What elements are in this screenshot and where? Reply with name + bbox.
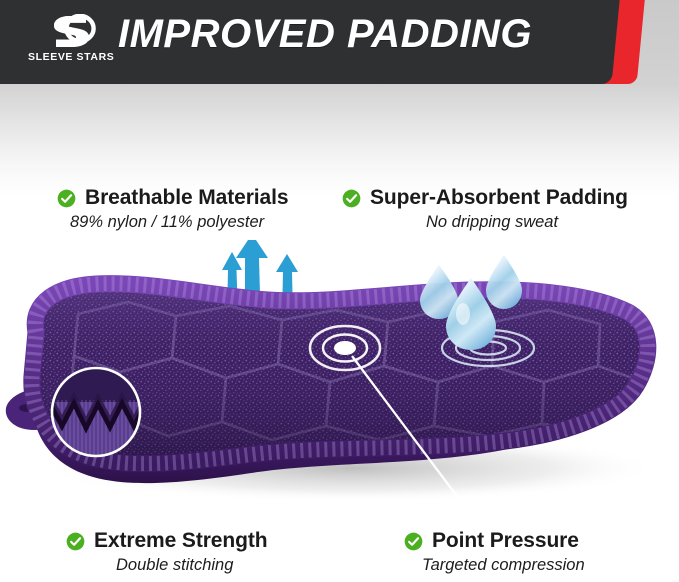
feature-title: Breathable Materials bbox=[85, 186, 288, 210]
feature-super-absorbent-padding: Super-Absorbent Padding No dripping swea… bbox=[342, 186, 628, 232]
feature-point-pressure: Point Pressure Targeted compression bbox=[404, 529, 585, 575]
product-illustration bbox=[0, 240, 679, 530]
header-banner: SLEEVE STARS IMPROVED PADDING bbox=[0, 0, 679, 84]
feature-title: Super-Absorbent Padding bbox=[370, 186, 628, 210]
product-infographic: SLEEVE STARS IMPROVED PADDING bbox=[0, 0, 679, 582]
brand-wordmark: SLEEVE STARS bbox=[28, 51, 112, 63]
green-check-circle-icon bbox=[342, 189, 361, 208]
feature-subtitle: Targeted compression bbox=[422, 556, 585, 575]
feature-extreme-strength: Extreme Strength Double stitching bbox=[66, 529, 267, 575]
feature-subtitle: Double stitching bbox=[116, 556, 267, 575]
brand-logo: SLEEVE STARS bbox=[28, 14, 112, 70]
feature-title: Extreme Strength bbox=[94, 529, 267, 553]
feature-subtitle: 89% nylon / 11% polyester bbox=[70, 213, 288, 232]
green-check-circle-icon bbox=[404, 532, 423, 551]
feature-subtitle: No dripping sweat bbox=[426, 213, 628, 232]
feature-breathable-materials: Breathable Materials 89% nylon / 11% pol… bbox=[57, 186, 288, 232]
sleeve-stars-s-monogram-icon bbox=[42, 14, 98, 50]
green-check-circle-icon bbox=[57, 189, 76, 208]
page-title: IMPROVED PADDING bbox=[118, 12, 532, 57]
feature-title: Point Pressure bbox=[432, 529, 579, 553]
green-check-circle-icon bbox=[66, 532, 85, 551]
